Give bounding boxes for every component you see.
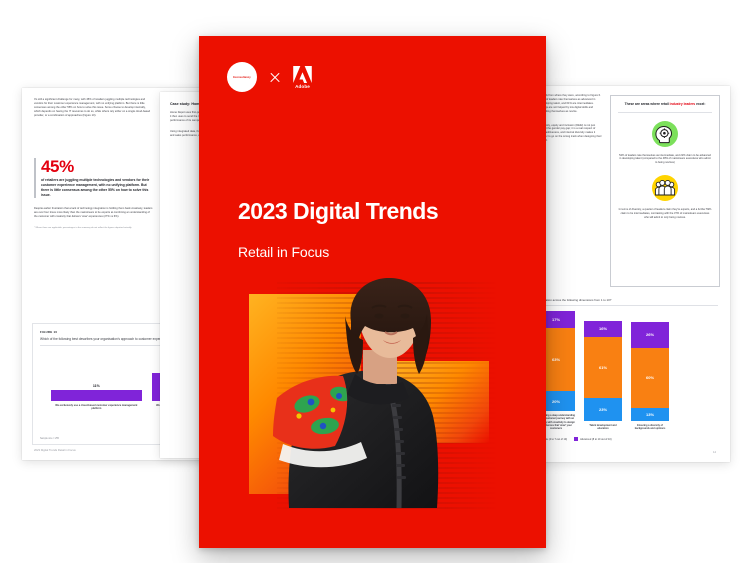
segment-value: 13 (646, 412, 650, 417)
left-page-intro-text: It's still a significant challenge for m… (34, 98, 152, 118)
report-cover[interactable]: Econsultancy Adobe 2023 Digital Trends R… (199, 36, 546, 548)
adobe-logo: Adobe (293, 66, 312, 89)
left-page-body-text: Despite earlier frustration that a lack … (34, 207, 154, 219)
econsultancy-logo: Econsultancy (227, 62, 257, 92)
segment-value: 63 (552, 357, 556, 362)
left-page-footnote: * Where there are applicable, percentage… (34, 227, 154, 230)
stacked-category-label: Ensuring a diversity of backgrounds and … (631, 424, 669, 431)
right-page-number: 14 (713, 451, 716, 454)
cover-title: 2023 Digital Trends (238, 199, 438, 224)
stacked-bar: 26% 60% 13% (631, 322, 669, 421)
callout-divider (618, 112, 712, 113)
right-page-paragraph-bottom: Diversity, equity and inclusion (DE&I) i… (540, 124, 602, 144)
stacked-bar: 16% 61% 23% (584, 321, 622, 421)
figure-10-sample-note: Sample size = 255 (40, 438, 59, 440)
left-page-footer: 2023 Digital Trends Retail in Focus (34, 449, 76, 452)
right-page-paragraph-top: ...back from where they were, according … (540, 94, 602, 114)
legend-item-advanced: Advanced (8 to 10 out of 10) (574, 437, 612, 441)
callout-title-suffix: excel: (695, 102, 705, 106)
legend-label-advanced: Advanced (8 to 10 out of 10) (580, 438, 612, 441)
stat-callout: 45% of retailers are juggling multiple t… (34, 150, 154, 230)
stacked-category-label: Talent development and education (584, 424, 622, 431)
callout-title: These are areas where retail industry le… (618, 102, 712, 107)
right-page-text-column: ...back from where they were, according … (540, 94, 602, 143)
segment-intermediate: 60% (631, 348, 669, 408)
segment-value: 26 (646, 332, 650, 337)
people-group-icon (618, 173, 712, 203)
industry-leaders-callout: These are areas where retail industry le… (610, 95, 720, 287)
segment-value: 16 (599, 326, 603, 331)
stacked-bar-group: 16% 61% 23% Talent development and educa… (584, 321, 622, 431)
legend-swatch-advanced (574, 437, 578, 441)
left-page-intro-block: It's still a significant challenge for m… (34, 98, 152, 118)
cover-hero-image (199, 276, 546, 548)
cover-subtitle: Retail in Focus (238, 244, 329, 260)
segment-basic: 23% (584, 398, 622, 421)
callout-item-2: In terms of diversity, a quarter of lead… (618, 208, 712, 219)
segment-value: 23 (599, 407, 603, 412)
segment-value: 20 (552, 399, 556, 404)
stat-number: 45% (41, 158, 154, 175)
callout-title-prefix: These are areas where retail (625, 102, 670, 106)
callout-title-highlight: industry leaders (670, 102, 695, 106)
segment-advanced: 26% (631, 322, 669, 348)
cover-inner: Econsultancy Adobe 2023 Digital Trends R… (199, 36, 546, 548)
bar-rect (51, 390, 142, 401)
head-gear-icon (618, 119, 712, 149)
bar-group: 11% We exclusively use a cloud-based cus… (51, 384, 142, 411)
segment-value: 60 (646, 375, 650, 380)
segment-value: 17 (552, 317, 556, 322)
callout-item-1: 52% of leaders rate themselves as interm… (618, 154, 712, 165)
x-separator-icon (269, 71, 281, 83)
adobe-wordmark: Adobe (295, 84, 310, 89)
segment-value: 61 (599, 365, 603, 370)
bar-value: 11% (93, 384, 100, 388)
scene-root: It's still a significant challenge for m… (0, 0, 750, 563)
segment-advanced: 16% (584, 321, 622, 337)
bar-category-label: We exclusively use a cloud-based custome… (51, 404, 142, 411)
stat-description: of retailers are juggling multiple techn… (41, 178, 154, 198)
segment-basic: 13% (631, 408, 669, 421)
econsultancy-logo-label: Econsultancy (233, 76, 250, 79)
adobe-a-icon (293, 66, 312, 83)
segment-intermediate: 61% (584, 337, 622, 398)
stacked-bar-group: 26% 60% 13% Ensuring a diversity of back… (631, 322, 669, 431)
cover-logo-row: Econsultancy Adobe (227, 62, 312, 92)
stat-rule (34, 158, 36, 198)
model-photo (259, 276, 499, 548)
